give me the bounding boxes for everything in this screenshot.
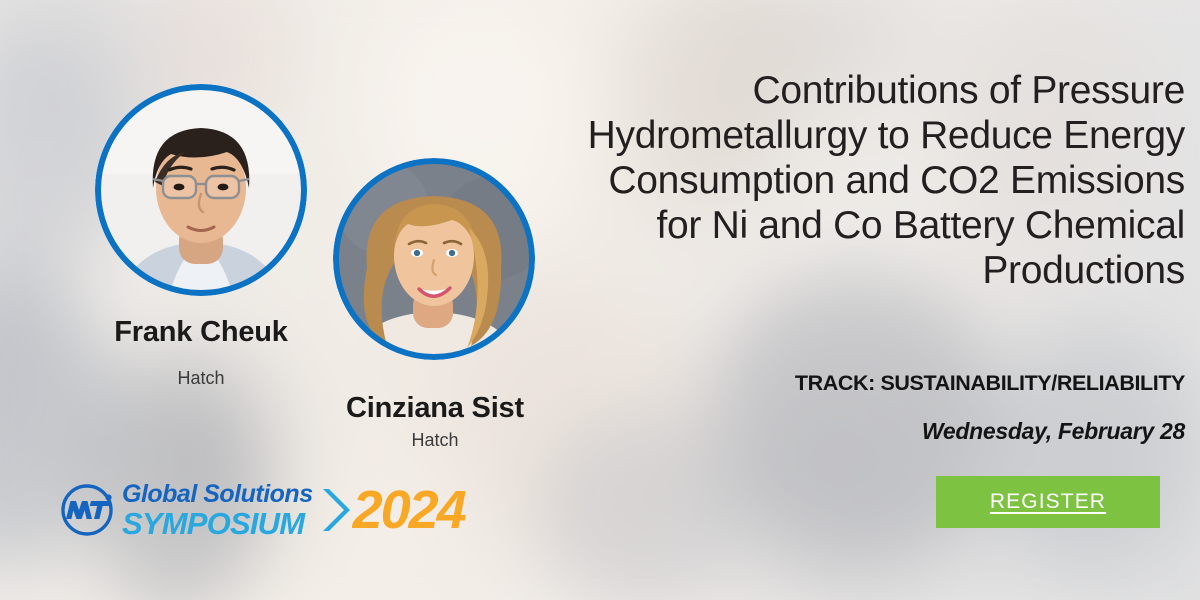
- portrait-cinziana-sist: [333, 158, 535, 360]
- symposium-logo: Global Solutions SYMPOSIUM 2024: [58, 478, 465, 542]
- portrait-frank-cheuk: [95, 84, 307, 296]
- chevron-right-icon: [317, 481, 351, 539]
- logo-year: 2024: [353, 483, 465, 537]
- register-button-label: REGISTER: [990, 490, 1106, 514]
- session-track: TRACK: SUSTAINABILITY/RELIABILITY: [565, 371, 1185, 396]
- logo-line-symposium: SYMPOSIUM: [122, 508, 313, 539]
- session-title: Contributions of Pressure Hydrometallurg…: [585, 68, 1185, 293]
- speaker-photo-2: [333, 158, 535, 360]
- register-button[interactable]: REGISTER: [936, 476, 1160, 528]
- logo-wordmark: Global Solutions SYMPOSIUM: [122, 482, 313, 539]
- mti-badge-icon: [58, 481, 116, 539]
- logo-line-global-solutions: Global Solutions: [122, 482, 313, 507]
- speaker-photo-1: [95, 84, 307, 296]
- session-date: Wednesday, February 28: [565, 418, 1185, 445]
- speaker-org-1: Hatch: [0, 368, 402, 389]
- symposium-session-poster: Frank Cheuk Hatch: [0, 0, 1200, 600]
